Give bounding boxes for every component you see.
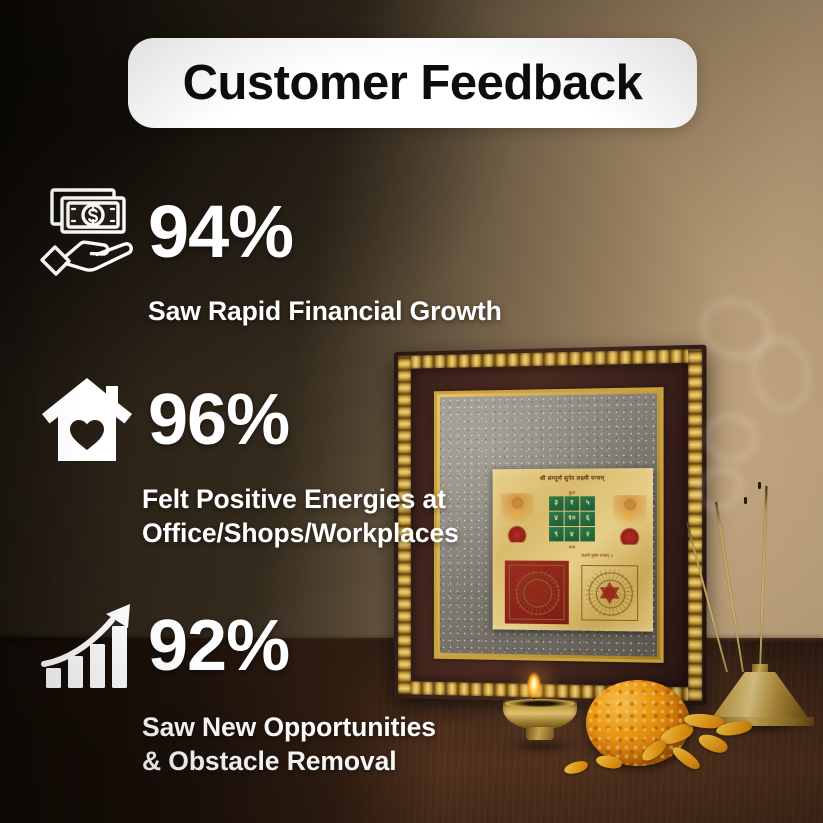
growth-chart-icon (36, 598, 148, 694)
magic-cell: ४ (549, 512, 563, 526)
poster-canvas: श्री सम्पूर्ण सुपेर लक्ष्मी यन्त्रम् कुल… (0, 0, 823, 823)
magic-cell: ५ (581, 496, 595, 510)
header-pill: Customer Feedback (128, 38, 697, 128)
magic-cell: १० (565, 512, 579, 526)
yantra-magic-square: ३ १ ५ ४ १० ६ ९ ४ २ (549, 496, 595, 541)
money-in-hand-icon (36, 184, 148, 280)
stat-row: 96% (36, 372, 459, 468)
mandala-diagram (509, 565, 565, 621)
mandala-ticks (586, 569, 634, 617)
stat-row: 94% (36, 184, 502, 280)
stat-block-new-opportunities: 92% Saw New Opportunities & Obstacle Rem… (36, 598, 436, 779)
incense-ember (744, 497, 747, 504)
yantra-subtitle: यन्त्र (493, 544, 653, 551)
yantra-subtitle-secondary: लक्ष्मी कुबेर यन्त्रम् ॥ (566, 553, 629, 559)
kuber-figure (613, 495, 647, 545)
house-heart-icon (36, 372, 148, 468)
frame-gold-bead-trim-right (688, 349, 702, 701)
incense-ember (758, 482, 761, 489)
diya-base (526, 727, 554, 740)
mandala-diagram (581, 565, 638, 621)
stat-label: Saw New Opportunities & Obstacle Removal (142, 710, 436, 779)
magic-cell: ९ (549, 527, 563, 541)
mandala-star (598, 582, 621, 605)
magic-cell: ६ (581, 512, 595, 526)
stat-block-financial-growth: 94% Saw Rapid Financial Growth (36, 184, 502, 328)
magic-cell: १ (565, 496, 579, 510)
stat-block-positive-energies: 96% Felt Positive Energies at Office/Sho… (36, 372, 459, 551)
yantra-mandala-gold (577, 561, 642, 625)
mandala-ticks (513, 569, 560, 616)
mandala-star (525, 581, 548, 604)
page-title: Customer Feedback (183, 55, 643, 111)
lakshmi-head (513, 498, 522, 507)
kuber-head (625, 500, 635, 509)
magic-cell: ४ (565, 527, 579, 541)
yantra-gold-plate: श्री सम्पूर्ण सुपेर लक्ष्मी यन्त्रम् कुल… (493, 468, 653, 632)
frame-glitter-mat: श्री सम्पूर्ण सुपेर लक्ष्मी यन्त्रम् कुल… (440, 393, 657, 656)
stat-label: Saw Rapid Financial Growth (148, 294, 502, 328)
stat-percent: 94% (148, 195, 293, 269)
diya-oil-well (505, 699, 575, 708)
stat-label: Felt Positive Energies at Office/Shops/W… (142, 482, 459, 551)
magic-cell: २ (581, 527, 595, 541)
brass-incense-holder (706, 664, 814, 726)
diya-flame-core (530, 672, 538, 690)
stat-row: 92% (36, 598, 436, 694)
yantra-mandala-red (505, 561, 569, 625)
brass-diya-lamp (503, 694, 577, 746)
lakshmi-figure (501, 493, 534, 542)
stat-percent: 96% (148, 384, 289, 456)
magic-cell: ३ (549, 496, 563, 510)
stat-percent: 92% (148, 610, 289, 682)
yantra-plate-title: श्री सम्पूर्ण सुपेर लक्ष्मी यन्त्रम् (493, 473, 653, 482)
